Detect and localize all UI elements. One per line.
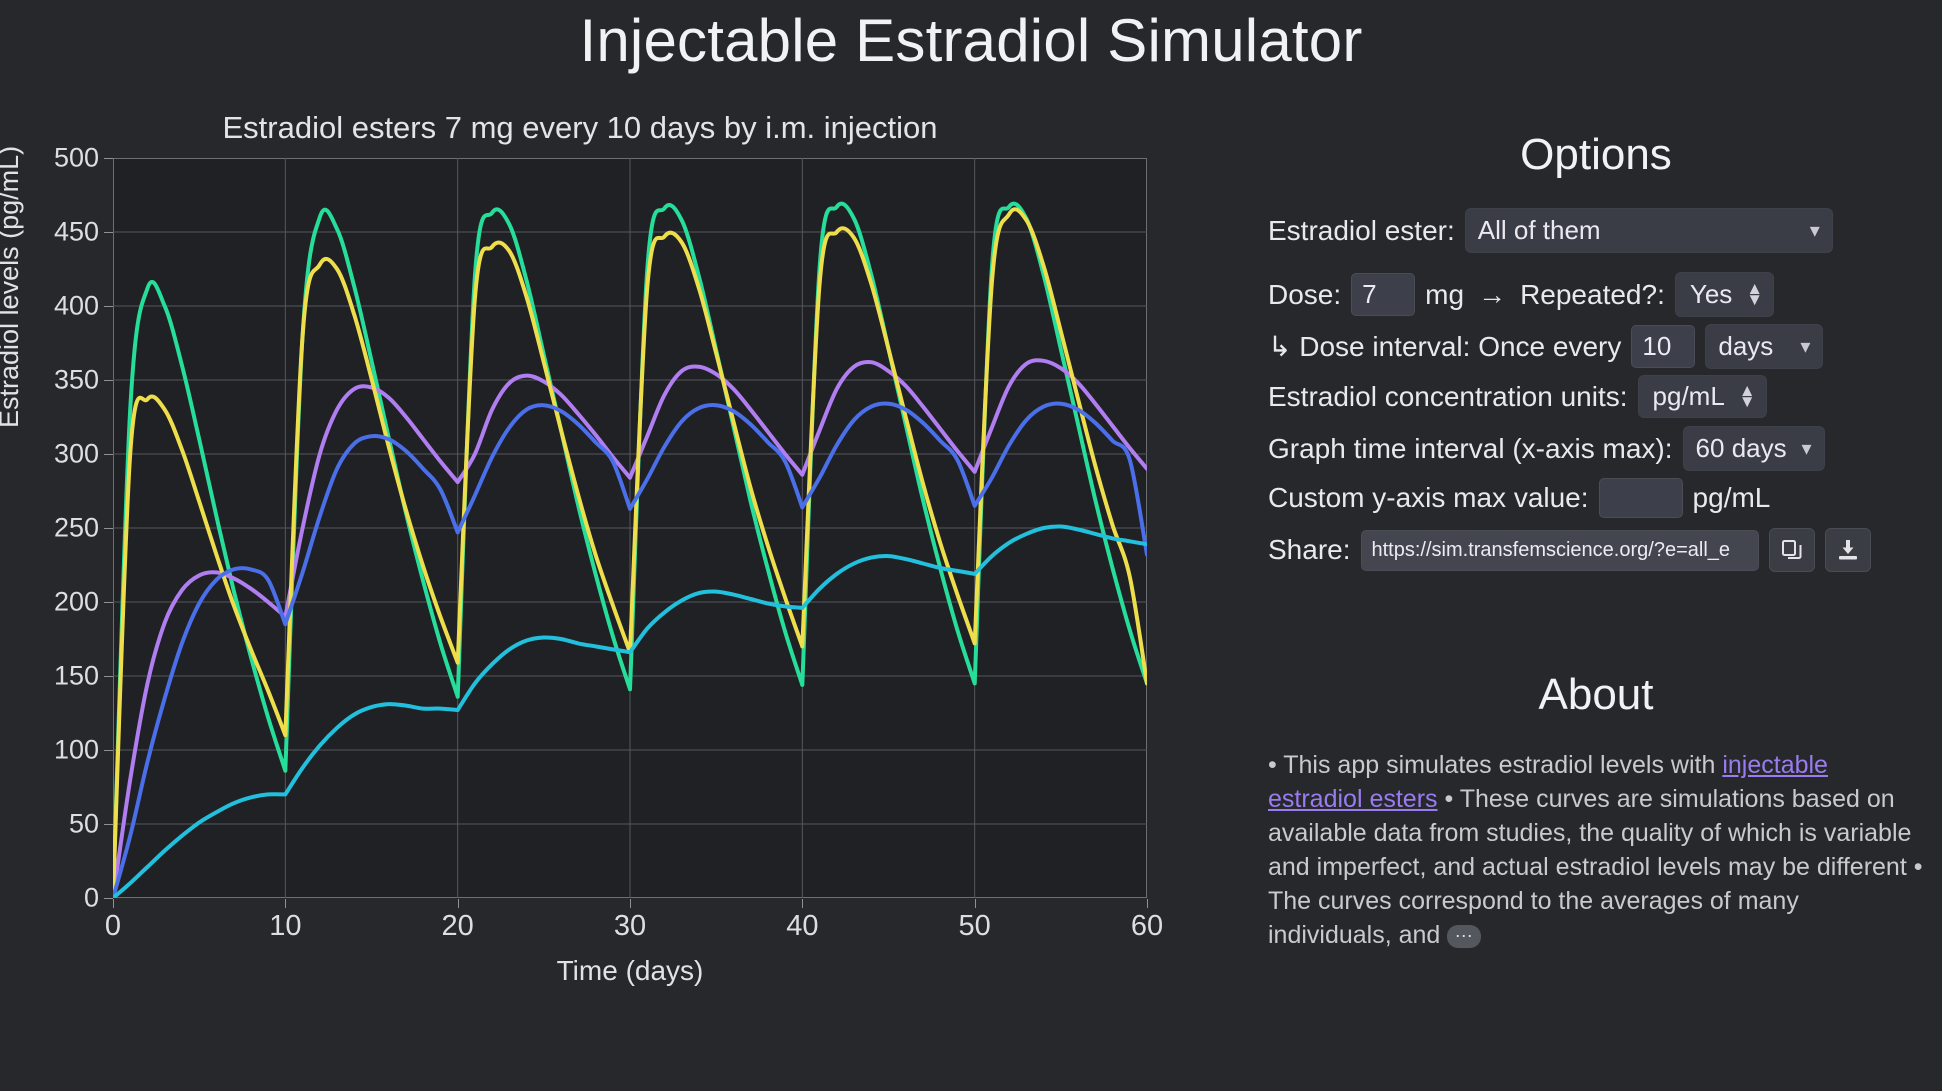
- plot-curves: [113, 158, 1147, 898]
- y-tick-mark: [104, 306, 113, 307]
- y-tick-label: 150: [0, 661, 99, 692]
- options-heading: Options: [1250, 130, 1942, 180]
- chart-title: Estradiol esters 7 mg every 10 days by i…: [0, 110, 1160, 146]
- about-text: • This app simulates estradiol levels wi…: [1268, 748, 1924, 952]
- y-tick-label: 300: [0, 439, 99, 470]
- chart-panel: Estradiol esters 7 mg every 10 days by i…: [0, 110, 1190, 1010]
- x-tick-mark: [630, 899, 631, 908]
- y-tick-label: 400: [0, 291, 99, 322]
- y-tick-mark: [104, 232, 113, 233]
- about-part1: • This app simulates estradiol levels wi…: [1268, 751, 1722, 779]
- option-row-units: Estradiol concentration units: pg/mL ▲▼: [1268, 375, 1767, 418]
- share-label: Share:: [1268, 534, 1351, 566]
- y-tick-label: 0: [0, 883, 99, 914]
- ester-label: Estradiol ester:: [1268, 215, 1455, 247]
- app-root: Injectable Estradiol Simulator Estradiol…: [0, 0, 1942, 1091]
- y-tick-mark: [104, 676, 113, 677]
- dose-unit: mg: [1425, 279, 1464, 311]
- y-tick-label: 350: [0, 365, 99, 396]
- x-tick-mark: [975, 899, 976, 908]
- x-tick-mark: [113, 899, 114, 908]
- y-tick-mark: [104, 454, 113, 455]
- ymax-input[interactable]: [1599, 478, 1683, 518]
- dose-input[interactable]: [1351, 273, 1415, 316]
- x-tick-mark: [458, 899, 459, 908]
- x-tick-label: 60: [1087, 910, 1207, 943]
- x-tick-mark: [1147, 899, 1148, 908]
- y-tick-mark: [104, 158, 113, 159]
- share-url-input[interactable]: [1361, 530, 1759, 571]
- y-tick-label: 450: [0, 217, 99, 248]
- x-tick-label: 40: [742, 910, 862, 943]
- y-tick-label: 50: [0, 809, 99, 840]
- x-tick-label: 30: [570, 910, 690, 943]
- x-tick-label: 50: [915, 910, 1035, 943]
- y-tick-label: 500: [0, 143, 99, 174]
- ymax-label: Custom y-axis max value:: [1268, 482, 1589, 514]
- spinner-arrows-icon: ▲▼: [1739, 386, 1756, 407]
- repeated-select[interactable]: Yes ▲▼: [1675, 272, 1774, 317]
- option-row-ester: Estradiol ester: All of them ▾: [1268, 208, 1833, 253]
- chevron-down-icon: ▾: [1800, 337, 1810, 357]
- units-label: Estradiol concentration units:: [1268, 381, 1628, 413]
- dose-interval-unit-select[interactable]: days ▾: [1705, 324, 1823, 369]
- ester-select-value: All of them: [1478, 215, 1601, 246]
- options-panel: Options Estradiol ester: All of them ▾ D…: [1250, 0, 1942, 1091]
- units-select[interactable]: pg/mL ▲▼: [1638, 375, 1767, 418]
- x-tick-mark: [285, 899, 286, 908]
- about-heading: About: [1250, 670, 1942, 720]
- y-tick-mark: [104, 824, 113, 825]
- download-icon: [1836, 538, 1860, 562]
- y-tick-mark: [104, 380, 113, 381]
- y-tick-mark: [104, 898, 113, 899]
- graph-interval-value: 60 days: [1696, 433, 1787, 464]
- copy-button[interactable]: [1769, 528, 1815, 572]
- repeated-select-value: Yes: [1690, 279, 1732, 310]
- ester-select[interactable]: All of them ▾: [1465, 208, 1833, 253]
- arrow-right-icon: →: [1474, 279, 1510, 311]
- dose-interval-unit-value: days: [1718, 331, 1773, 362]
- chevron-down-icon: ▾: [1802, 439, 1812, 459]
- x-axis-label: Time (days): [113, 955, 1147, 987]
- copy-icon: [1780, 538, 1804, 562]
- units-select-value: pg/mL: [1653, 381, 1725, 412]
- x-tick-label: 0: [53, 910, 173, 943]
- spinner-arrows-icon: ▲▼: [1746, 284, 1763, 305]
- x-tick-mark: [802, 899, 803, 908]
- dose-interval-input[interactable]: [1631, 325, 1695, 368]
- option-row-ymax: Custom y-axis max value: pg/mL: [1268, 478, 1770, 518]
- y-tick-mark: [104, 602, 113, 603]
- graph-interval-label: Graph time interval (x-axis max):: [1268, 433, 1673, 465]
- y-tick-label: 250: [0, 513, 99, 544]
- graph-interval-select[interactable]: 60 days ▾: [1683, 426, 1825, 471]
- y-tick-mark: [104, 750, 113, 751]
- y-tick-mark: [104, 528, 113, 529]
- chevron-down-icon: ▾: [1810, 221, 1820, 241]
- y-tick-label: 100: [0, 735, 99, 766]
- ymax-unit: pg/mL: [1693, 482, 1771, 514]
- dose-interval-label: ↳ Dose interval: Once every: [1268, 330, 1621, 363]
- y-tick-label: 200: [0, 587, 99, 618]
- download-button[interactable]: [1825, 528, 1871, 572]
- show-more-button[interactable]: ⋯: [1447, 925, 1481, 948]
- option-row-share: Share:: [1268, 528, 1871, 572]
- x-tick-label: 10: [225, 910, 345, 943]
- dose-label: Dose:: [1268, 279, 1341, 311]
- option-row-graph-interval: Graph time interval (x-axis max): 60 day…: [1268, 426, 1825, 471]
- x-tick-label: 20: [398, 910, 518, 943]
- repeated-label: Repeated?:: [1520, 279, 1665, 311]
- option-row-dose: Dose: mg → Repeated?: Yes ▲▼: [1268, 272, 1774, 317]
- plot-frame: 0501001502002503003504004505000102030405…: [113, 158, 1147, 898]
- option-row-dose-interval: ↳ Dose interval: Once every days ▾: [1268, 324, 1823, 369]
